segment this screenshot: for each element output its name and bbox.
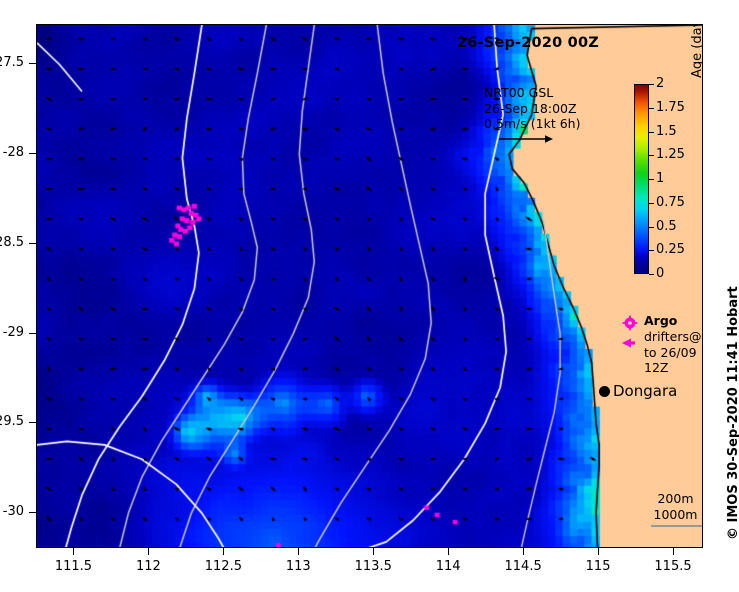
- x-axis-label: 115.5: [643, 559, 703, 574]
- y-axis-tick: [29, 512, 36, 513]
- depth-1000m-label: 1000m: [654, 507, 698, 522]
- x-axis-tick: [298, 548, 299, 555]
- x-axis-label: 112.5: [193, 559, 253, 574]
- x-axis-tick: [148, 548, 149, 555]
- annotation-line-1: NRT00 GSL: [484, 85, 553, 100]
- copyright-notice: © IMOS 30-Sep-2020 11:41 Hobart: [726, 286, 739, 540]
- y-axis-label: -27.5: [0, 55, 24, 70]
- map-overlay-layer: [37, 25, 703, 548]
- depth-contour-key: 200m 1000m: [649, 491, 702, 522]
- colorbar-tick-label: 0.25: [656, 243, 685, 256]
- map-title: 26-Sep-2020 00Z: [457, 35, 599, 51]
- colorbar-tick: [649, 203, 654, 204]
- depth-200m-label: 200m: [657, 491, 693, 506]
- drifter-track-icon: [620, 337, 636, 349]
- x-axis-tick: [523, 548, 524, 555]
- y-axis-label: -29: [0, 325, 24, 340]
- model-annotation: NRT00 GSL 26-Sep 18:00Z 0.5m/s (1kt 6h): [484, 85, 580, 132]
- y-axis-label: -29.5: [0, 414, 24, 429]
- colorbar-tick: [649, 227, 654, 228]
- y-axis-tick: [29, 333, 36, 334]
- x-axis-label: 111.5: [43, 559, 103, 574]
- legend-drifters-line-2: to 26/09 12Z: [644, 345, 697, 376]
- y-axis-label: -30: [0, 504, 24, 519]
- y-axis-tick: [29, 63, 36, 64]
- velocity-scale-arrow-icon: [497, 133, 557, 145]
- x-axis-label: 114: [418, 559, 478, 574]
- colorbar-tick: [649, 274, 654, 275]
- y-axis-tick: [29, 422, 36, 423]
- y-axis-tick: [29, 243, 36, 244]
- x-axis-tick: [373, 548, 374, 555]
- legend-argo-label: Argo: [644, 313, 677, 329]
- x-axis-tick: [73, 548, 74, 555]
- x-axis-label: 112: [118, 559, 178, 574]
- colorbar-tick-label: 0.75: [656, 196, 685, 209]
- colorbar-tick-label: 1: [656, 172, 664, 185]
- colorbar-tick-label: 0: [656, 267, 664, 280]
- x-axis-label: 115: [568, 559, 628, 574]
- depth-key-rule: [651, 525, 703, 527]
- colorbar-tick-label: 0.5: [656, 220, 677, 233]
- annotation-line-2: 26-Sep 18:00Z: [484, 101, 577, 116]
- x-axis-tick: [448, 548, 449, 555]
- colorbar-tick-label: 1.25: [656, 148, 685, 161]
- x-axis-tick: [673, 548, 674, 555]
- argo-float-icon: [622, 315, 638, 331]
- y-axis-label: -28.5: [0, 235, 24, 250]
- colorbar-tick: [649, 132, 654, 133]
- dongara-label: Dongara: [613, 382, 677, 400]
- x-axis-label: 113: [268, 559, 328, 574]
- map-plot-area: 26-Sep-2020 00Z NRT00 GSL 26-Sep 18:00Z …: [36, 24, 703, 548]
- annotation-line-3: 0.5m/s (1kt 6h): [484, 116, 580, 131]
- legend-drifters-line-1: drifters@6h: [644, 329, 703, 344]
- legend-drifters-label: drifters@6h to 26/09 12Z: [644, 329, 703, 376]
- colorbar-title: Age (days) of filled SST (wrt latest): [690, 24, 703, 78]
- colorbar-tick-label: 1.75: [656, 101, 685, 114]
- colorbar-gradient: [634, 84, 649, 274]
- dongara-marker-icon: [599, 386, 610, 397]
- colorbar-tick: [649, 179, 654, 180]
- colorbar-tick: [649, 155, 654, 156]
- x-axis-label: 114.5: [493, 559, 553, 574]
- x-axis-label: 113.5: [343, 559, 403, 574]
- colorbar-tick: [649, 108, 654, 109]
- colorbar-tick-label: 1.5: [656, 125, 677, 138]
- colorbar-tick-label: 2: [656, 77, 664, 90]
- y-axis-label: -28: [0, 145, 24, 160]
- y-axis-tick: [29, 153, 36, 154]
- colorbar-tick: [649, 250, 654, 251]
- colorbar-tick: [649, 84, 654, 85]
- x-axis-tick: [598, 548, 599, 555]
- x-axis-tick: [223, 548, 224, 555]
